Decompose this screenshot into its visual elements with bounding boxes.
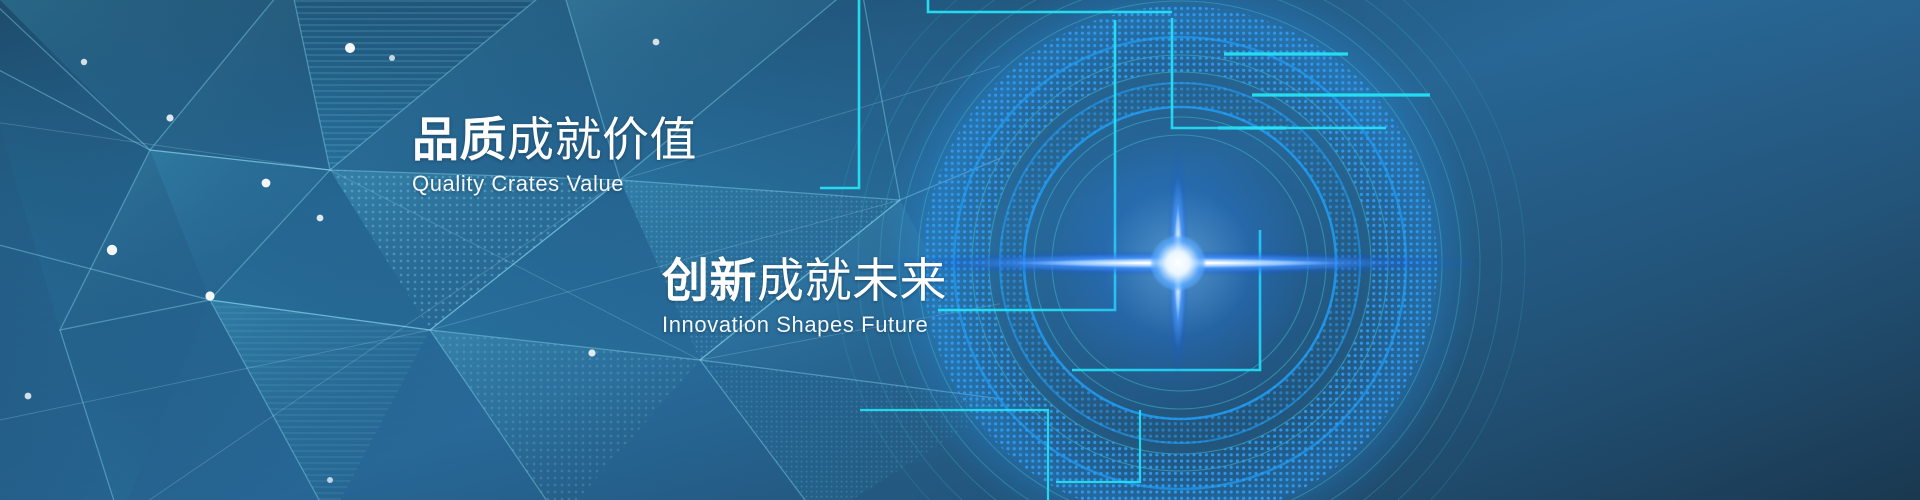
tagline-innovation: 创新成就未来 Innovation Shapes Future: [662, 257, 947, 338]
tagline-innovation-subtitle: Innovation Shapes Future: [662, 312, 947, 338]
tagline-quality: 品质成就价值 Quality Crates Value: [412, 116, 697, 197]
tagline-quality-headline: 品质成就价值: [412, 116, 697, 165]
tagline-innovation-headline: 创新成就未来: [662, 257, 947, 306]
tagline-innovation-cn-strong: 创新: [662, 254, 757, 307]
hero-banner: 品质成就价值 Quality Crates Value 创新成就未来 Innov…: [0, 0, 1920, 500]
tagline-quality-cn-light: 成就价值: [507, 113, 697, 166]
tagline-quality-cn-strong: 品质: [412, 113, 507, 166]
tagline-quality-subtitle: Quality Crates Value: [412, 171, 697, 197]
tagline-innovation-cn-light: 成就未来: [757, 254, 947, 307]
